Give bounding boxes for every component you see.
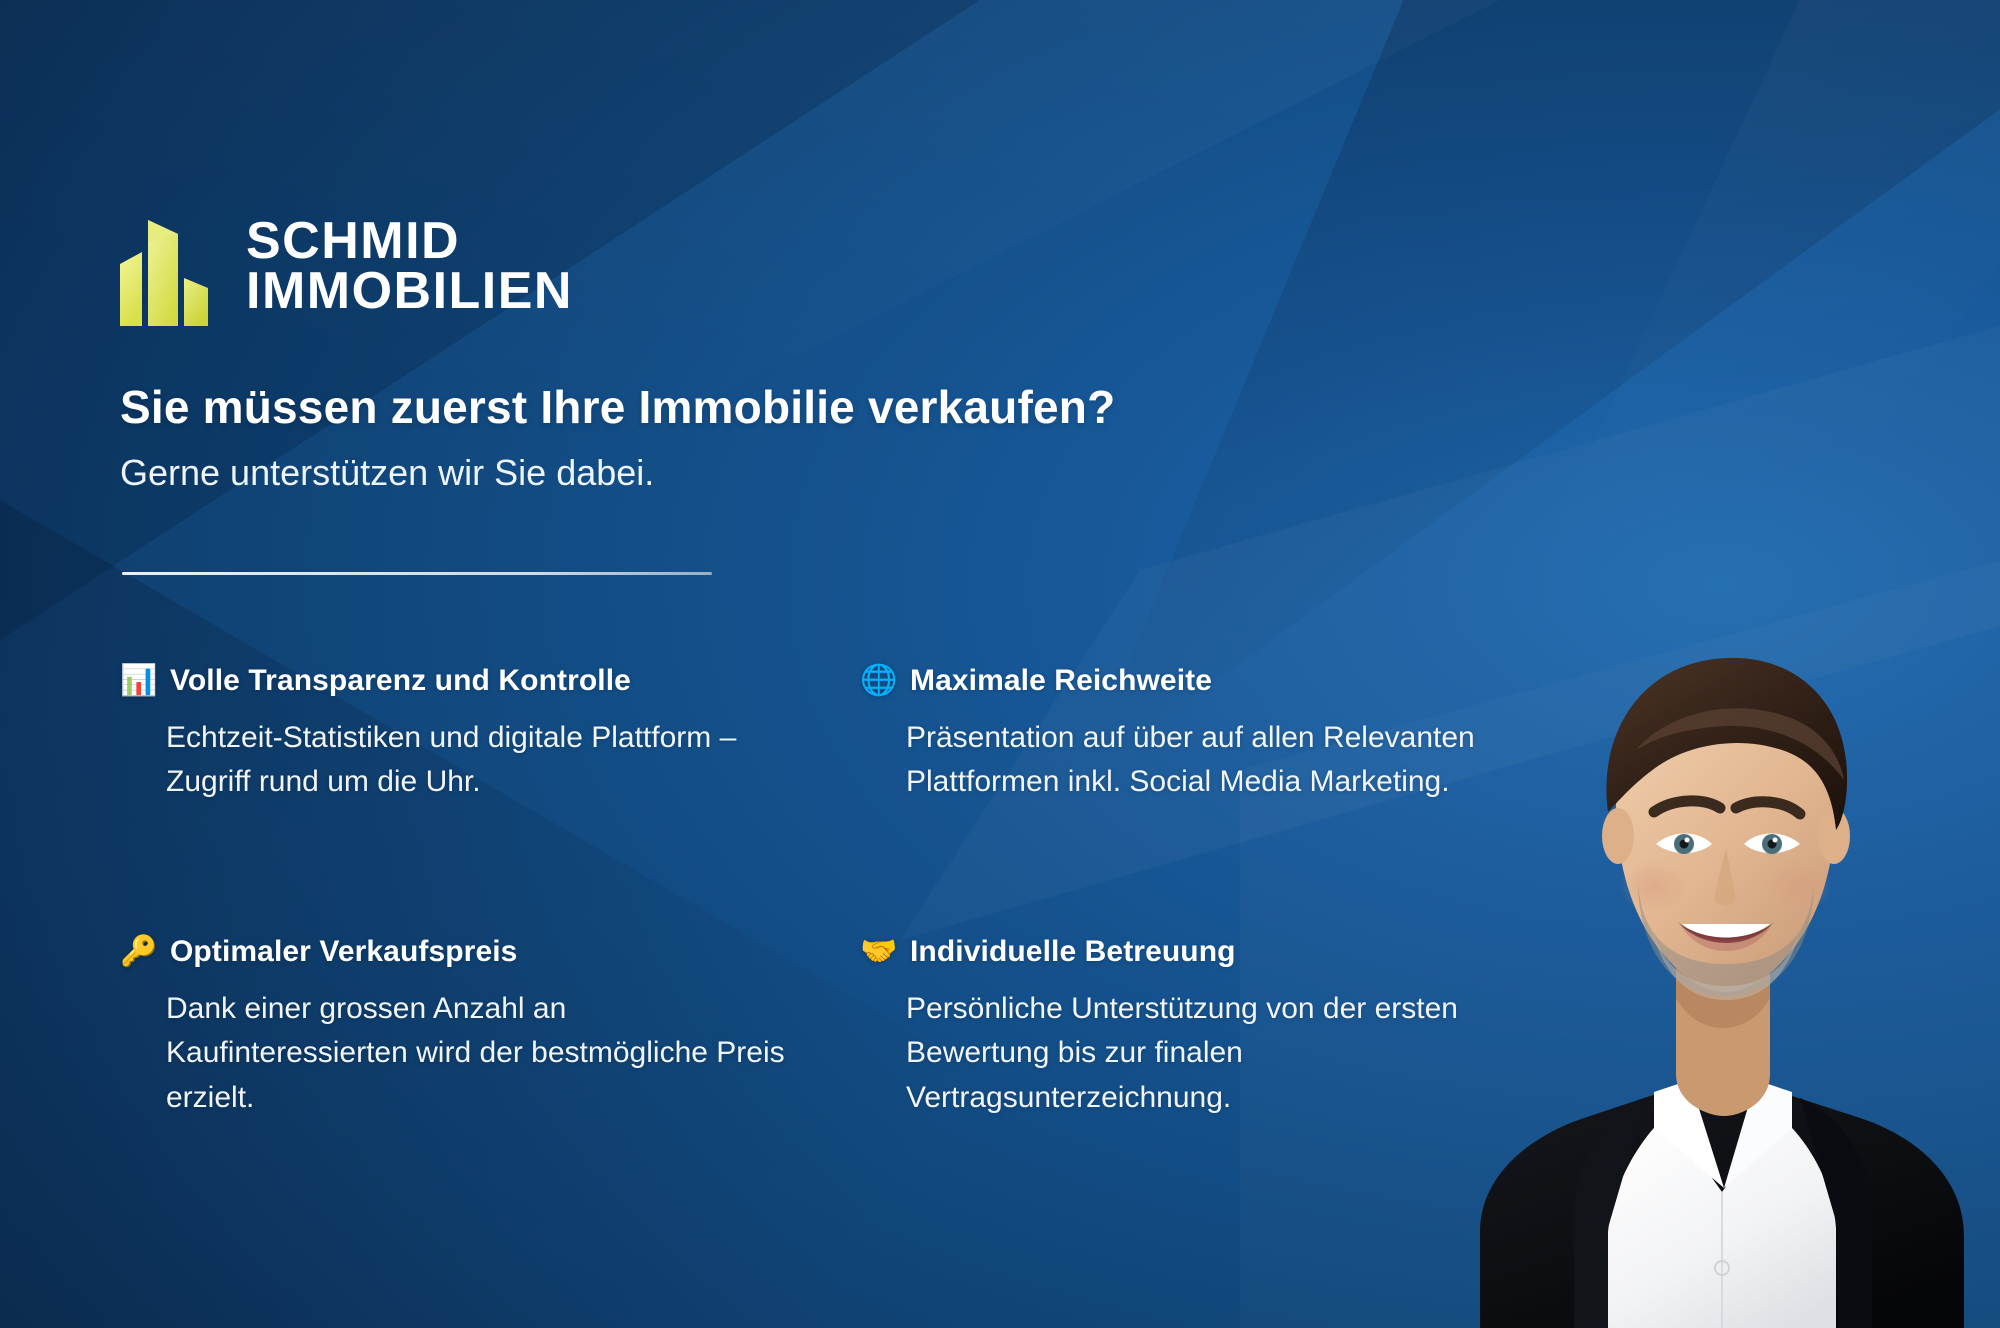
feature-title: Individuelle Betreuung (910, 935, 1236, 969)
brand-name-line-1: SCHMID (246, 217, 573, 267)
feature-header: 🤝 Individuelle Betreuung (860, 935, 1620, 969)
bar-chart-icon: 📊 (120, 666, 158, 696)
presentation-slide: SCHMID IMMOBILIEN Sie müssen zuerst Ihre… (0, 0, 2000, 1328)
handshake-icon: 🤝 (860, 937, 898, 967)
page-subtitle: Gerne unterstützen wir Sie dabei. (120, 452, 654, 494)
feature-item-transparency: 📊 Volle Transparenz und Kontrolle Echtze… (120, 664, 860, 805)
feature-item-support: 🤝 Individuelle Betreuung Persönliche Unt… (860, 935, 1620, 1120)
brand-wordmark: SCHMID IMMOBILIEN (246, 217, 573, 317)
feature-title: Volle Transparenz und Kontrolle (170, 664, 631, 698)
globe-icon: 🌐 (860, 666, 898, 696)
title-divider (122, 572, 712, 575)
feature-title: Optimaler Verkaufspreis (170, 935, 517, 969)
feature-description: Präsentation auf über auf allen Relevant… (906, 716, 1546, 805)
brand-logo: SCHMID IMMOBILIEN (120, 208, 573, 326)
building-logo-icon (120, 208, 218, 326)
feature-grid: 📊 Volle Transparenz und Kontrolle Echtze… (120, 664, 1620, 1120)
feature-header: 🔑 Optimaler Verkaufspreis (120, 935, 860, 969)
feature-description: Persönliche Unterstützung von der ersten… (906, 987, 1546, 1120)
feature-header: 📊 Volle Transparenz und Kontrolle (120, 664, 860, 698)
slide-content: SCHMID IMMOBILIEN Sie müssen zuerst Ihre… (0, 0, 2000, 1328)
feature-header: 🌐 Maximale Reichweite (860, 664, 1620, 698)
feature-item-price: 🔑 Optimaler Verkaufspreis Dank einer gro… (120, 935, 860, 1120)
key-icon: 🔑 (120, 937, 158, 967)
feature-description: Dank einer grossen Anzahl an Kaufinteres… (166, 987, 806, 1120)
feature-description: Echtzeit-Statistiken und digitale Plattf… (166, 716, 806, 805)
feature-item-reach: 🌐 Maximale Reichweite Präsentation auf ü… (860, 664, 1620, 805)
feature-title: Maximale Reichweite (910, 664, 1212, 698)
brand-name-line-2: IMMOBILIEN (246, 267, 573, 317)
page-title: Sie müssen zuerst Ihre Immobilie verkauf… (120, 380, 1115, 434)
